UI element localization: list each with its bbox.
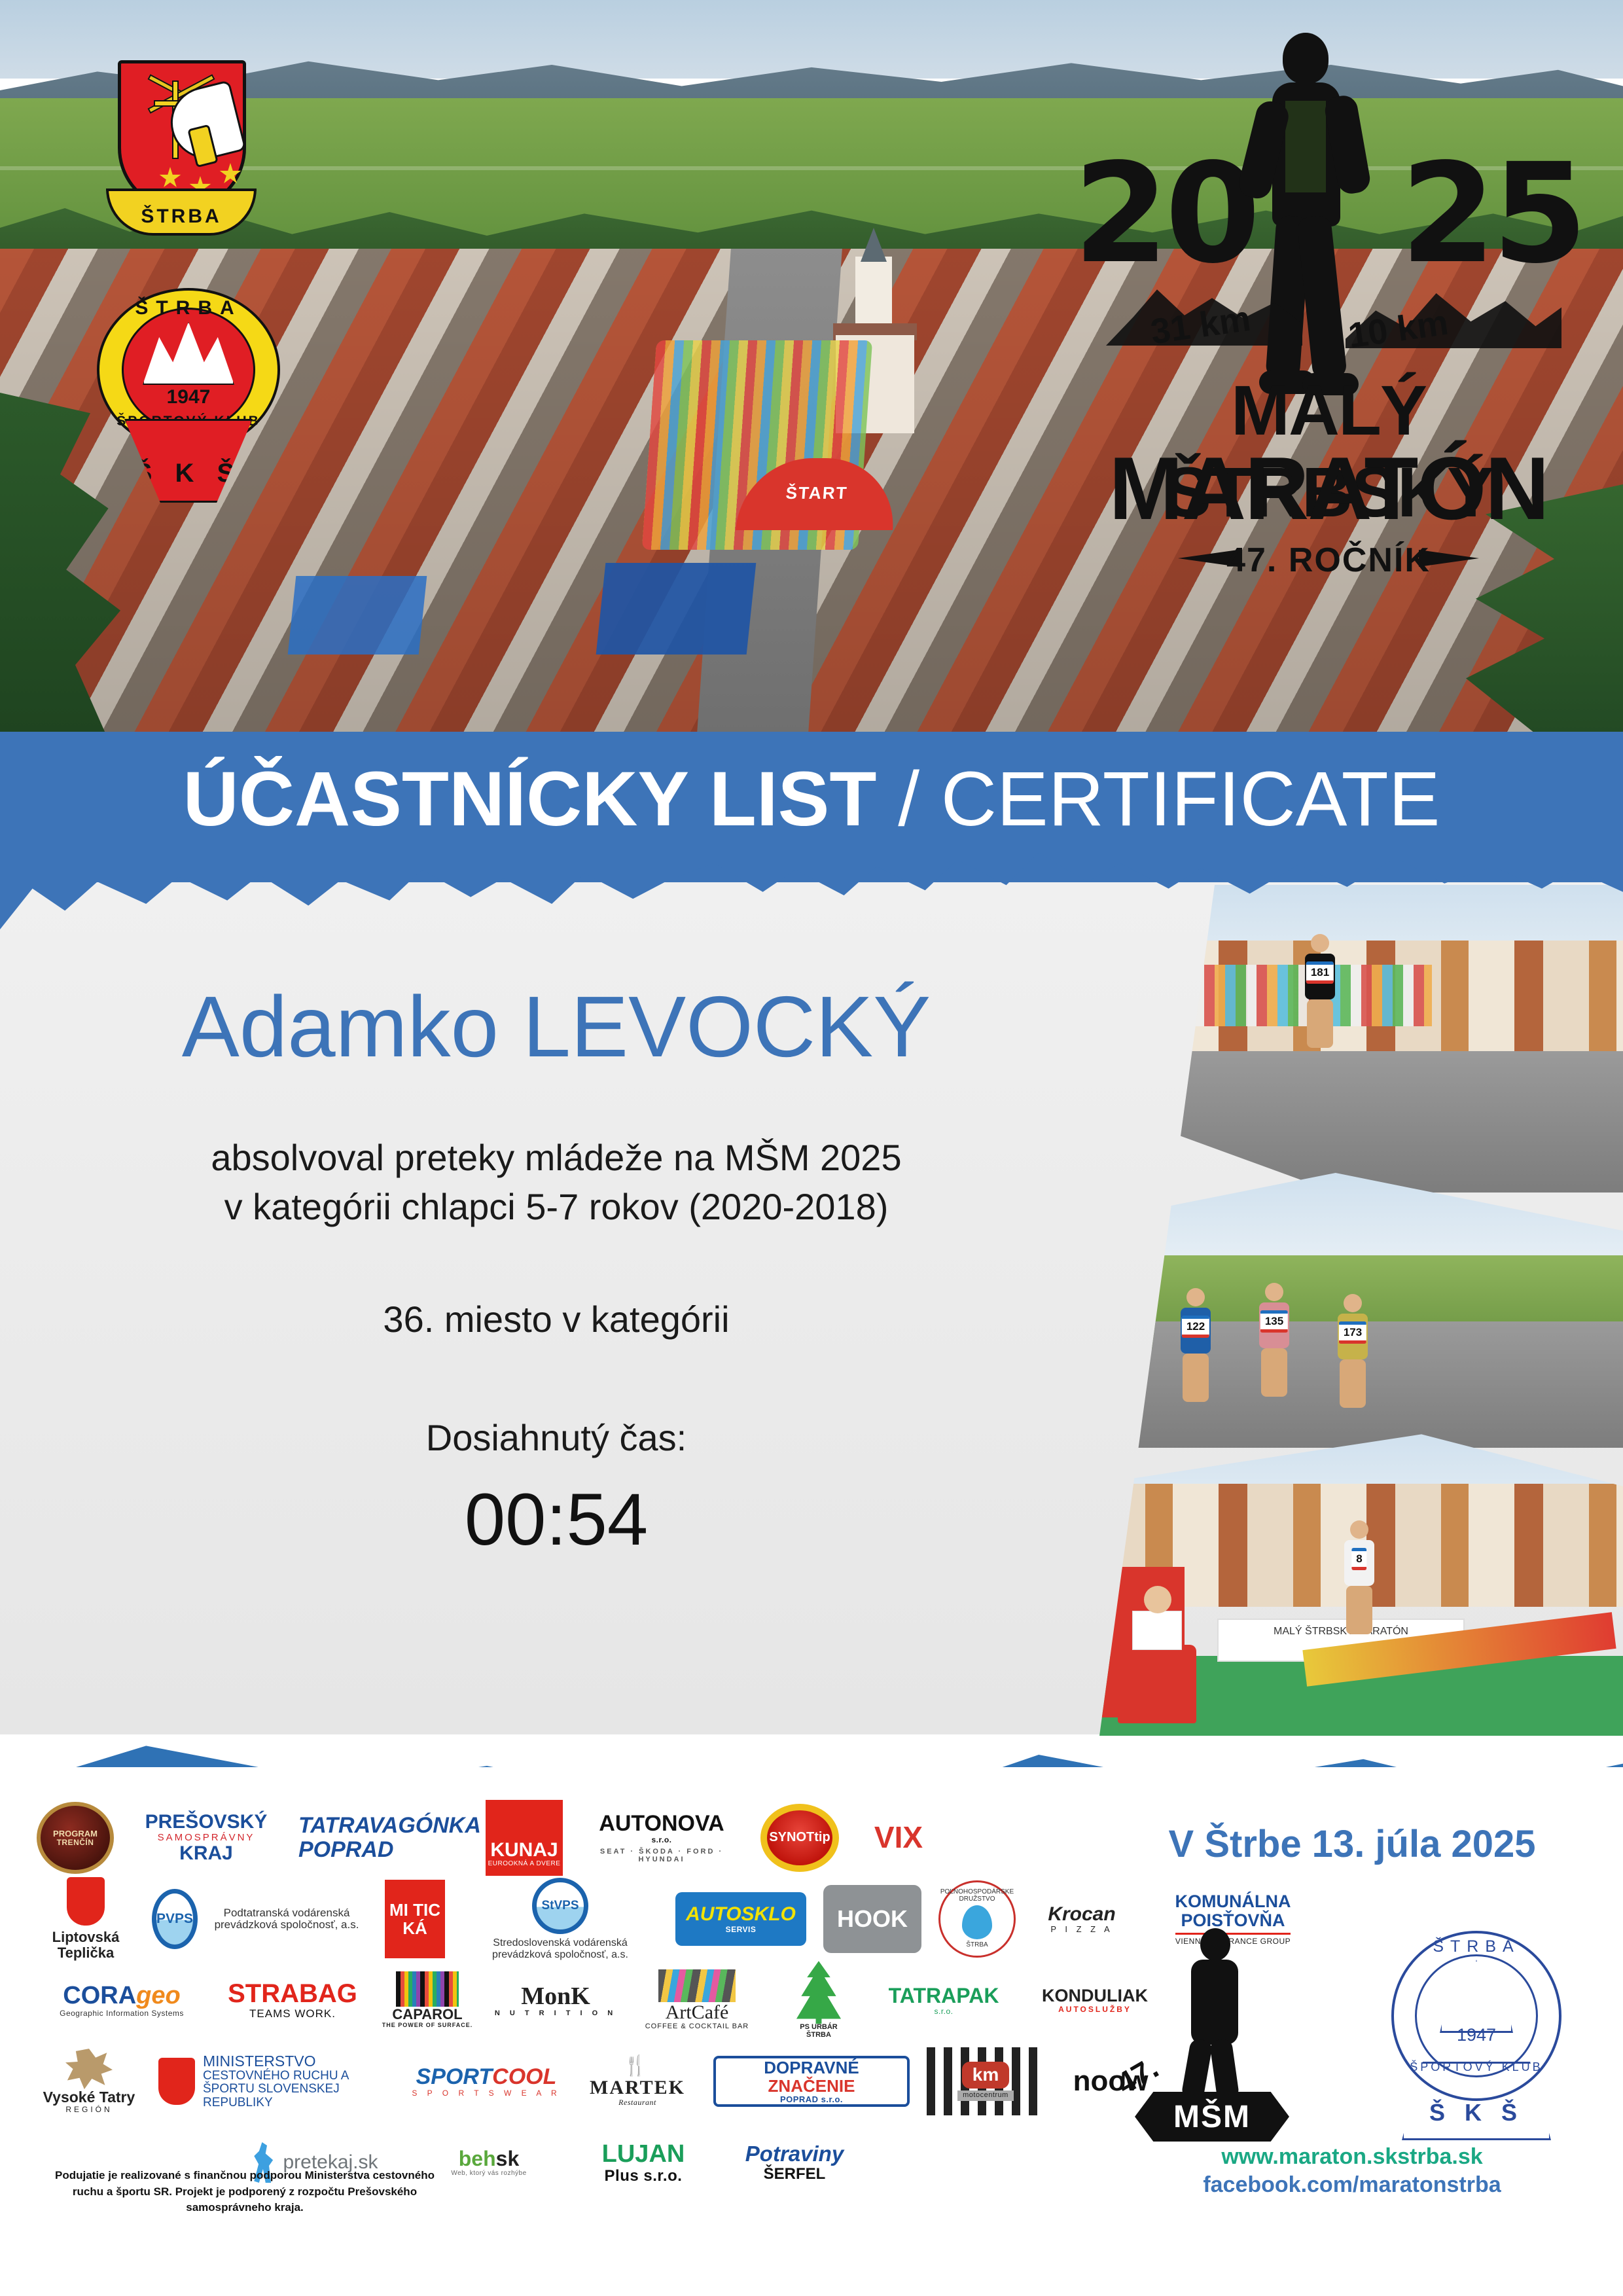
sponsor-autosklo-servis: AUTOSKLO SERVIS — [675, 1892, 806, 1946]
sponsor-label-2: sk — [496, 2147, 520, 2170]
msm-runner-leg-2 — [1209, 2038, 1240, 2101]
sponsor-pd-strba: POĽNOHOSPODÁRSKE DRUŽSTVO ŠTRBA — [938, 1880, 1016, 1958]
sponsor-presovsky-kraj: PREŠOVSKÝ SAMOSPRÁVNY KRAJ — [131, 1812, 281, 1865]
sponsor-label: HOOK — [837, 1907, 908, 1932]
footer: PROGRAM TRENČÍN PREŠOVSKÝ SAMOSPRÁVNY KR… — [0, 1767, 1623, 2296]
sponsor-corageo: CORAgeo Geographic Information Systems — [37, 1982, 207, 2018]
sponsor-sublabel: Teplička — [58, 1945, 114, 1961]
water-drop-icon — [962, 1905, 992, 1939]
sponsor-artcafe: ArtCafé COFFEE & COCKTAIL BAR — [635, 1969, 759, 2031]
website-link[interactable]: www.maraton.skstrba.sk — [1116, 2144, 1588, 2170]
sponsor-ministerstvo-sr: MINISTERSTVO CESTOVNÉHO RUCHU A ŠPORTU S… — [158, 2053, 394, 2109]
tree-icon — [794, 1961, 843, 2024]
sponsor-label: CORA — [63, 1982, 136, 2009]
cutlery-icon: 🍴 — [623, 2056, 651, 2077]
sponsor-strabag: STRABAG TEAMS WORK. — [224, 1980, 361, 2020]
sponsor-sublabel: Plus s.r.o. — [605, 2168, 683, 2185]
footer-right-block: V Štrbe 13. júla 2025 47. MŠM ŠTRBA 1947… — [1103, 1797, 1588, 2229]
race-bib-number: 8 — [1351, 1548, 1366, 1570]
sponsor-label: MonK — [521, 1983, 590, 2010]
sponsor-label: PROGRAM — [53, 1829, 98, 1839]
runner-vest — [1285, 101, 1326, 192]
stamp-abbr-label: Š K Š — [1404, 2099, 1549, 2126]
sponsor-potraviny-serfel: Potraviny ŠERFEL — [722, 2142, 866, 2183]
sponsor-label: MARTEK — [590, 2077, 685, 2098]
sponsor-label: TATRAPAK — [889, 1984, 999, 2007]
sponsor-sublabel: POPRAD s.r.o. — [768, 2095, 855, 2104]
pvps-badge-icon: PVPS — [152, 1889, 198, 1949]
stamp-top-label: ŠTRBA — [1372, 1937, 1581, 1956]
msm-abbr-label: MŠM — [1135, 2092, 1289, 2142]
sponsor-lujan-plus: LUJAN Plus s.r.o. — [581, 2141, 705, 2185]
slovak-crest-icon — [158, 2058, 195, 2105]
msm-runner-body — [1191, 1960, 1238, 2045]
sponsor-caparol: CAPAROL THE POWER OF SURFACE. — [378, 1971, 476, 2028]
sponsor-sublabel: N U T R I T I O N — [495, 2010, 616, 2018]
facebook-link[interactable]: facebook.com/maratonstrba — [1116, 2172, 1588, 2198]
marathon-edition-label: 47. ROČNÍK — [1073, 541, 1584, 580]
sponsor-tatrapak: TATRAPAK s.r.o. — [878, 1984, 1009, 2016]
event-tent-1 — [596, 563, 756, 655]
sponsor-tatravagonka-poprad: TATRAVAGÓNKA POPRAD — [298, 1814, 469, 1861]
caparol-elephant-icon — [396, 1971, 459, 2007]
runner-head — [1265, 1283, 1283, 1301]
sponsor-sublabel: Restaurant — [618, 2098, 656, 2107]
sponsor-autonova: AUTONOVA s.r.o. SEAT · ŠKODA · FORD · HY… — [580, 1812, 743, 1863]
title-bold-part: ÚČASTNÍCKY LIST — [183, 756, 877, 842]
msm-runner-head — [1200, 1928, 1230, 1961]
sponsor-ps-urbar-strba: PS URBÁR ŠTRBA — [776, 1961, 861, 2039]
coat-ribbon: ŠTRBA — [106, 188, 257, 236]
race-bib-number: 173 — [1339, 1321, 1366, 1344]
sponsor-label: MINISTERSTVO — [203, 2053, 394, 2070]
time-label: Dosiahnutý čas: — [0, 1413, 1113, 1463]
runner-head — [1186, 1288, 1205, 1306]
girl-head — [1144, 1586, 1171, 1613]
sponsor-sublabel: TEAMS WORK. — [249, 2008, 336, 2020]
finish-time-value: 00:54 — [0, 1477, 1113, 1562]
sponsor-row: CORAgeo Geographic Information Systems S… — [37, 1960, 1116, 2041]
sponsor-sublabel: COFFEE & COCKTAIL BAR — [645, 2023, 749, 2031]
sponsor-label: km — [962, 2062, 1009, 2088]
sponsor-label: AUTOSKLO — [686, 1904, 796, 1925]
sponsor-liptovska-teplicka: Liptovská Teplička — [37, 1877, 135, 1961]
club-banner-shape: Š K Š — [124, 419, 253, 503]
sponsor-monk-nutrition: MonK N U T R I T I O N — [493, 1983, 618, 2018]
sponsor-label-2: ZNAČENIE — [768, 2076, 855, 2096]
club-top-label: ŠTRBA — [97, 297, 280, 319]
sponsor-label: MI TIC KÁ — [385, 1901, 445, 1937]
marathon-logo: 20 25 31 km 10 km MALÝ ŠTRBSKÝ MARATÓN 4… — [1073, 26, 1584, 615]
certificate-page: ŠTART ŠTRBA ŠTRBA 1947 ŠPORTOVÝ KLUB Š K… — [0, 0, 1623, 2296]
certificate-text-block: Adamko LEVOCKÝ absolvoval preteky mládež… — [0, 982, 1113, 1562]
stvps-badge-icon: StVPS — [532, 1878, 588, 1934]
sponsor-sublabel: POPRAD — [298, 1838, 393, 1862]
artcafe-bars-icon — [658, 1969, 736, 2002]
race-bib-number: 122 — [1182, 1316, 1209, 1338]
runner-legs — [1183, 1354, 1209, 1402]
sponsor-sublabel: motocentrum — [957, 2090, 1014, 2101]
sponsor-sublabel: S P O R T S W E A R — [412, 2089, 560, 2098]
club-abbr-label: Š K Š — [126, 459, 251, 488]
club-year-label: 1947 — [97, 386, 280, 408]
msm-emblem: 47. MŠM — [1116, 1928, 1306, 2144]
sponsor-sublabel: Stredoslovenská vodárenská prevádzková s… — [462, 1937, 658, 1960]
title-light-part: / CERTIFICATE — [876, 756, 1440, 842]
sponsor-hook: HOOK — [823, 1885, 921, 1953]
photo2-runner-a: 122 — [1171, 1288, 1220, 1402]
sponsor-miticka: MI TIC KÁ — [385, 1880, 445, 1958]
sponsor-pvps: PVPS Podtatranská vodárenská prevádzková… — [152, 1889, 368, 1949]
race-bib-number: 181 — [1306, 961, 1334, 984]
sponsor-sublabel: EUROOKNÁ A DVERE — [488, 1861, 561, 1868]
sponsor-sublabel: Podtatranská vodárenská prevádzková spol… — [205, 1907, 368, 1931]
strba-coat-of-arms: ŠTRBA — [106, 60, 257, 250]
sponsor-sublabel: ŠERFEL — [764, 2166, 826, 2183]
sponsor-row: Liptovská Teplička PVPS Podtatranská vod… — [37, 1878, 1116, 1960]
sponsor-sublabel: CESTOVNÉHO RUCHU A ŠPORTU SLOVENSKEJ REP… — [203, 2070, 394, 2110]
sponsor-sublabel: TRENČÍN — [53, 1839, 98, 1847]
photo3-winner: 8 — [1335, 1520, 1383, 1634]
sponsor-program-trencin: PROGRAM TRENČÍN — [37, 1802, 114, 1874]
runner-head — [1350, 1520, 1368, 1539]
race-bib-number: 135 — [1260, 1310, 1288, 1333]
coat-of-arms-label: ŠTRBA — [109, 206, 254, 228]
sponsor-sublabel: ŠTRBA — [806, 2032, 831, 2039]
sponsor-logos: PROGRAM TRENČÍN PREŠOVSKÝ SAMOSPRÁVNY KR… — [37, 1797, 1116, 2229]
sponsor-sublabel-2: KRAJ — [179, 1843, 233, 1864]
sponsor-label: STRABAG — [228, 1980, 357, 2008]
sponsor-label: Potraviny — [745, 2142, 844, 2166]
sponsor-label: AUTONOVA — [599, 1812, 724, 1836]
page-title: ÚČASTNÍCKY LIST / CERTIFICATE — [0, 761, 1623, 838]
sponsor-sublabel: s.r.o. — [651, 1836, 671, 1844]
sponsor-label: DOPRAVNÉ — [764, 2058, 859, 2077]
funding-disclaimer: Podujatie je realizované s finančnou pod… — [42, 2168, 448, 2216]
runner-head — [1283, 33, 1329, 84]
year-right-digits: 25 — [1400, 145, 1584, 283]
stamp-year-label: 1947 — [1372, 2025, 1581, 2045]
runner-head — [1344, 1294, 1362, 1312]
sponsor-label: ArtCafé — [666, 2002, 729, 2023]
sponsor-stvps: StVPS Stredoslovenská vodárenská prevádz… — [462, 1878, 658, 1960]
achievement-line-2: v kategórii chlapci 5-7 rokov (2020-2018… — [0, 1182, 1113, 1232]
sponsor-sublabel: REGIÓN — [65, 2106, 112, 2114]
sponsor-vysoke-tatry-region: Vysoké Tatry REGIÓN — [37, 2049, 141, 2114]
sponsor-row: Vysoké Tatry REGIÓN MINISTERSTVO CESTOVN… — [37, 2041, 1116, 2122]
achievement-line-1: absolvoval preteky mládeže na MŠM 2025 — [0, 1133, 1113, 1183]
sponsor-dopravne-znacenie-poprad: DOPRAVNÉ ZNAČENIE POPRAD s.r.o. — [713, 2056, 910, 2107]
sponsor-label: KUNAJ — [490, 1839, 558, 1861]
sponsor-sportcool: SPORTCOOL S P O R T S W E A R — [411, 2065, 562, 2098]
sponsor-label: Vysoké Tatry — [43, 2089, 135, 2106]
msm-runner-leg-1 — [1181, 2038, 1213, 2102]
sponsor-label: POĽNOHOSPODÁRSKE DRUŽSTVO — [940, 1889, 1014, 1903]
sks-club-logo: ŠTRBA 1947 ŠPORTOVÝ KLUB Š K Š — [97, 288, 280, 504]
sponsor-sublabel: Web, ktorý vás rozhýbe — [451, 2170, 526, 2178]
sponsor-row: PROGRAM TRENČÍN PREŠOVSKÝ SAMOSPRÁVNY KR… — [37, 1797, 1116, 1878]
participant-name: Adamko LEVOCKÝ — [0, 982, 1113, 1073]
runner-legs — [1346, 1586, 1372, 1634]
sponsor-synottip: SYNOTtip — [760, 1804, 839, 1872]
sponsor-label: beh — [459, 2147, 496, 2170]
sponsor-km-motocentrum: km motocentrum — [927, 2047, 1044, 2115]
runner-legs — [1340, 1359, 1366, 1408]
sponsor-label-2: geo — [136, 1982, 181, 2009]
sponsor-vix: VIX — [856, 1801, 941, 1874]
sponsor-kunaj: KUNAJ EUROOKNÁ A DVERE — [486, 1800, 563, 1876]
runner-head — [1311, 934, 1329, 952]
sponsor-sublabel: THE POWER OF SURFACE. — [382, 2022, 473, 2029]
sponsor-label: VIX — [874, 1821, 923, 1854]
photo1-runner: 181 — [1296, 934, 1344, 1048]
stamp-banner-shape: Š K Š — [1402, 2062, 1551, 2140]
contact-links: www.maraton.skstrba.sk facebook.com/mara… — [1116, 2144, 1588, 2198]
event-tent-2 — [288, 576, 427, 655]
liptovska-crest-icon — [67, 1877, 105, 1926]
year-left-digits: 20 — [1073, 145, 1257, 283]
sponsor-sublabel: s.r.o. — [934, 2007, 953, 2016]
sponsor-sublabel: SAMOSPRÁVNY — [158, 1833, 255, 1843]
marathon-name-line2: MARATÓN — [1073, 437, 1584, 539]
runner-legs — [1261, 1348, 1287, 1397]
sponsor-brand-list: SEAT · ŠKODA · FORD · HYUNDAI — [580, 1848, 743, 1864]
sponsor-label: LUJAN — [602, 2141, 685, 2168]
msm-runner-icon — [1170, 1928, 1255, 2092]
photo-runners-on-course: 122 135 173 — [1099, 1173, 1623, 1448]
photo2-runner-c: 173 — [1329, 1294, 1377, 1408]
sponsor-label: PREŠOVSKÝ — [145, 1812, 268, 1833]
placement-text: 36. miesto v kategórii — [0, 1295, 1113, 1344]
sponsor-label: CAPAROL — [392, 2007, 462, 2022]
runner-legs — [1307, 999, 1333, 1048]
sponsor-sublabel: Geographic Information Systems — [60, 2009, 184, 2018]
sponsor-martek-restaurant: 🍴 MARTEK Restaurant — [579, 2056, 696, 2107]
star-icon-3 — [219, 163, 241, 185]
sponsor-label-2: COOL — [492, 2064, 556, 2089]
issue-date: V Štrbe 13. júla 2025 — [1116, 1822, 1588, 1866]
sponsor-label: Liptovská — [52, 1929, 120, 1945]
costume-blouse — [1132, 1611, 1182, 1650]
sponsor-label: SPORT — [416, 2064, 493, 2089]
tatras-icon — [65, 2049, 113, 2089]
sponsor-sublabel: ŠTRBA — [966, 1942, 988, 1949]
church-spire — [861, 228, 887, 262]
sponsor-label: TATRAVAGÓNKA — [298, 1814, 481, 1838]
star-icon-1 — [159, 167, 181, 189]
sponsor-sublabel: SERVIS — [726, 1926, 757, 1934]
sponsor-label: SYNOTtip — [769, 1831, 830, 1845]
sks-official-stamp: ŠTRBA 1947 ŠPORTOVÝ KLUB Š K Š — [1372, 1919, 1581, 2142]
photo2-runner-b: 135 — [1250, 1283, 1298, 1397]
